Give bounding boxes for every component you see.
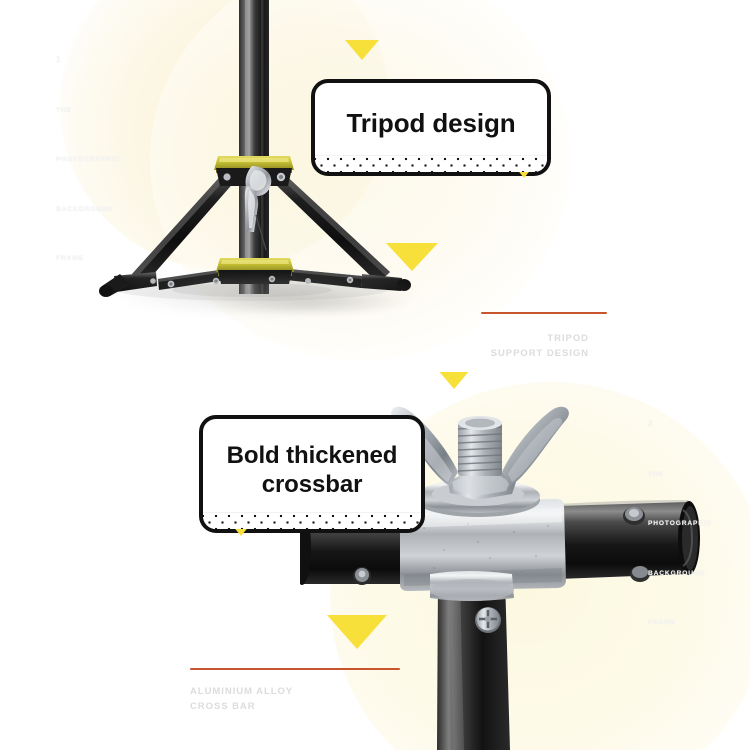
arrow-down-icon-pointing-crossbar <box>327 615 387 649</box>
watermark-number: 1 <box>56 55 120 65</box>
callout-text-tripod-design: Tripod design <box>346 108 515 139</box>
caption-rule <box>481 312 607 314</box>
callout-bubble-bold-crossbar: Bold thickened crossbar <box>199 415 425 533</box>
panel-crossbar-design: 2 THE PHOTOGRAPHIC BACKGROUND FRAME Bold… <box>0 372 750 750</box>
watermark-line-2: PHOTOGRAPHIC <box>648 520 712 528</box>
arrow-down-icon-top-crossbar-panel <box>437 372 471 389</box>
watermark-line-4: FRAME <box>56 255 120 263</box>
panel-tripod-design: 1 THE PHOTOGRAPHIC BACKGROUND FRAME Trip… <box>0 0 750 372</box>
arrow-down-icon-pointing-tripod-leg <box>386 243 438 271</box>
polka-dot-strip <box>203 512 421 529</box>
callout-bubble-tripod-design: Tripod design <box>311 79 551 176</box>
caption-aluminium-alloy-cross-bar: ALUMINIUM ALLOY CROSS BAR <box>190 668 490 715</box>
watermark-line-1: THE <box>648 471 712 479</box>
watermark-line-3: BACKGROUND <box>56 206 120 214</box>
watermark-line-4: FRAME <box>648 619 712 627</box>
polka-dot-strip <box>315 155 547 172</box>
watermark-panel-two: 2 THE PHOTOGRAPHIC BACKGROUND FRAME <box>648 378 712 669</box>
watermark-line-1: THE <box>56 107 120 115</box>
caption-text: TRIPOD SUPPORT DESIGN <box>437 331 707 362</box>
callout-text-bold-crossbar: Bold thickened crossbar <box>227 442 398 500</box>
tripod-floor-shadow-core <box>210 290 410 316</box>
watermark-line-3: BACKGROUND <box>648 570 712 578</box>
caption-text: ALUMINIUM ALLOY CROSS BAR <box>190 684 490 715</box>
product-infographic-page: 1 THE PHOTOGRAPHIC BACKGROUND FRAME Trip… <box>0 0 750 750</box>
watermark-line-2: PHOTOGRAPHIC <box>56 156 120 164</box>
arrow-down-icon-above-tripod-bubble <box>345 40 379 60</box>
caption-rule <box>190 668 400 670</box>
caption-tripod-support-design: TRIPOD SUPPORT DESIGN <box>437 312 707 362</box>
watermark-number: 2 <box>648 419 712 429</box>
watermark-panel-one: 1 THE PHOTOGRAPHIC BACKGROUND FRAME <box>56 14 120 305</box>
tripod-floor-shadow <box>118 276 418 316</box>
